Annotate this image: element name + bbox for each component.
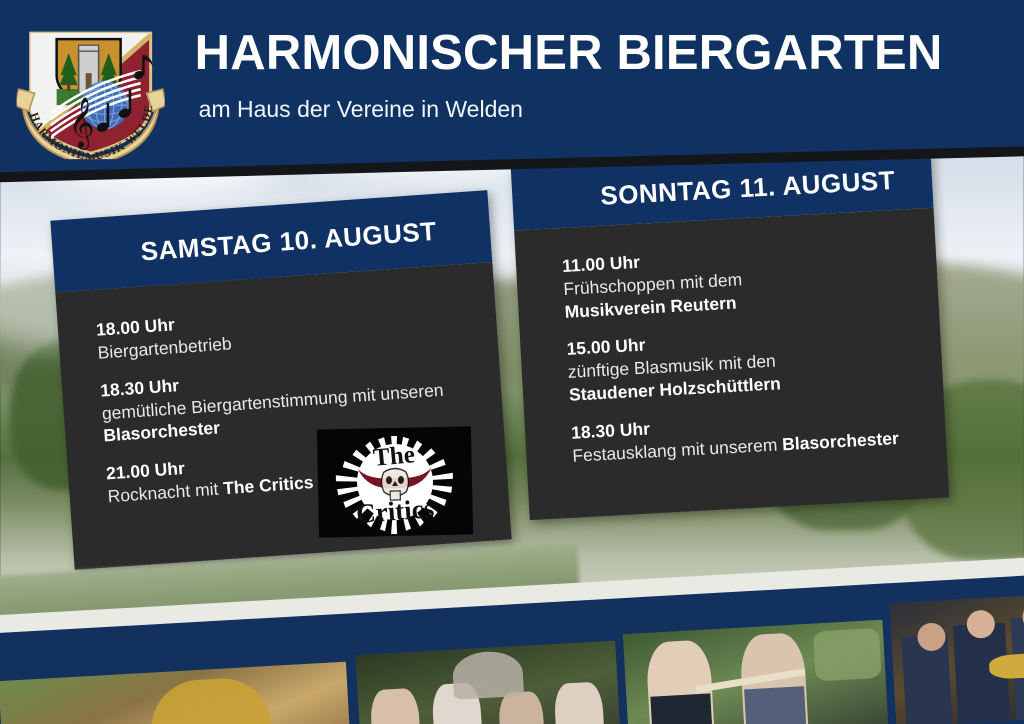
panel-heading-saturday-label: SAMSTAG 10. AUGUST: [140, 216, 438, 268]
harmoniemusik-welden-crest-icon: 𝄞 HARMONI: [17, 19, 165, 159]
page-subtitle: am Haus der Vereine in Welden: [199, 96, 523, 123]
event-panel-sunday: SONNTAG 11. AUGUST 11.00 Uhr Frühschoppe…: [511, 146, 949, 520]
photo-tile: [623, 620, 890, 724]
event-list-sunday: 11.00 Uhr Frühschoppen mit dem Musikvere…: [562, 236, 946, 483]
event-item: 15.00 Uhr zünftige Blasmusik mit den Sta…: [566, 319, 941, 406]
event-item: 11.00 Uhr Frühschoppen mit dem Musikvere…: [562, 236, 937, 323]
page-title: HARMONISCHER BIERGARTEN: [195, 25, 943, 81]
photo-tile: [356, 641, 623, 724]
panel-body-sunday: 11.00 Uhr Frühschoppen mit dem Musikvere…: [514, 208, 949, 520]
event-desc-bold: The Critics: [222, 472, 314, 498]
event-item: 18.00 Uhr Biergartenbetrieb: [95, 293, 477, 364]
header-band: 𝄞 HARMONI: [0, 0, 1024, 174]
event-item: 18.30 Uhr Festausklang mit unserem Blaso…: [571, 402, 945, 467]
photo-tile: [0, 662, 353, 724]
svg-text:𝄞: 𝄞: [69, 97, 95, 150]
photo-tile: [890, 592, 1024, 724]
the-critics-band-logo-icon: The Critics: [317, 426, 473, 537]
poster: 𝄞 HARMONI: [0, 0, 1024, 724]
svg-text:The: The: [372, 441, 416, 472]
event-desc-bold: Blasorchester: [782, 428, 900, 454]
svg-text:Critics: Critics: [355, 493, 435, 529]
